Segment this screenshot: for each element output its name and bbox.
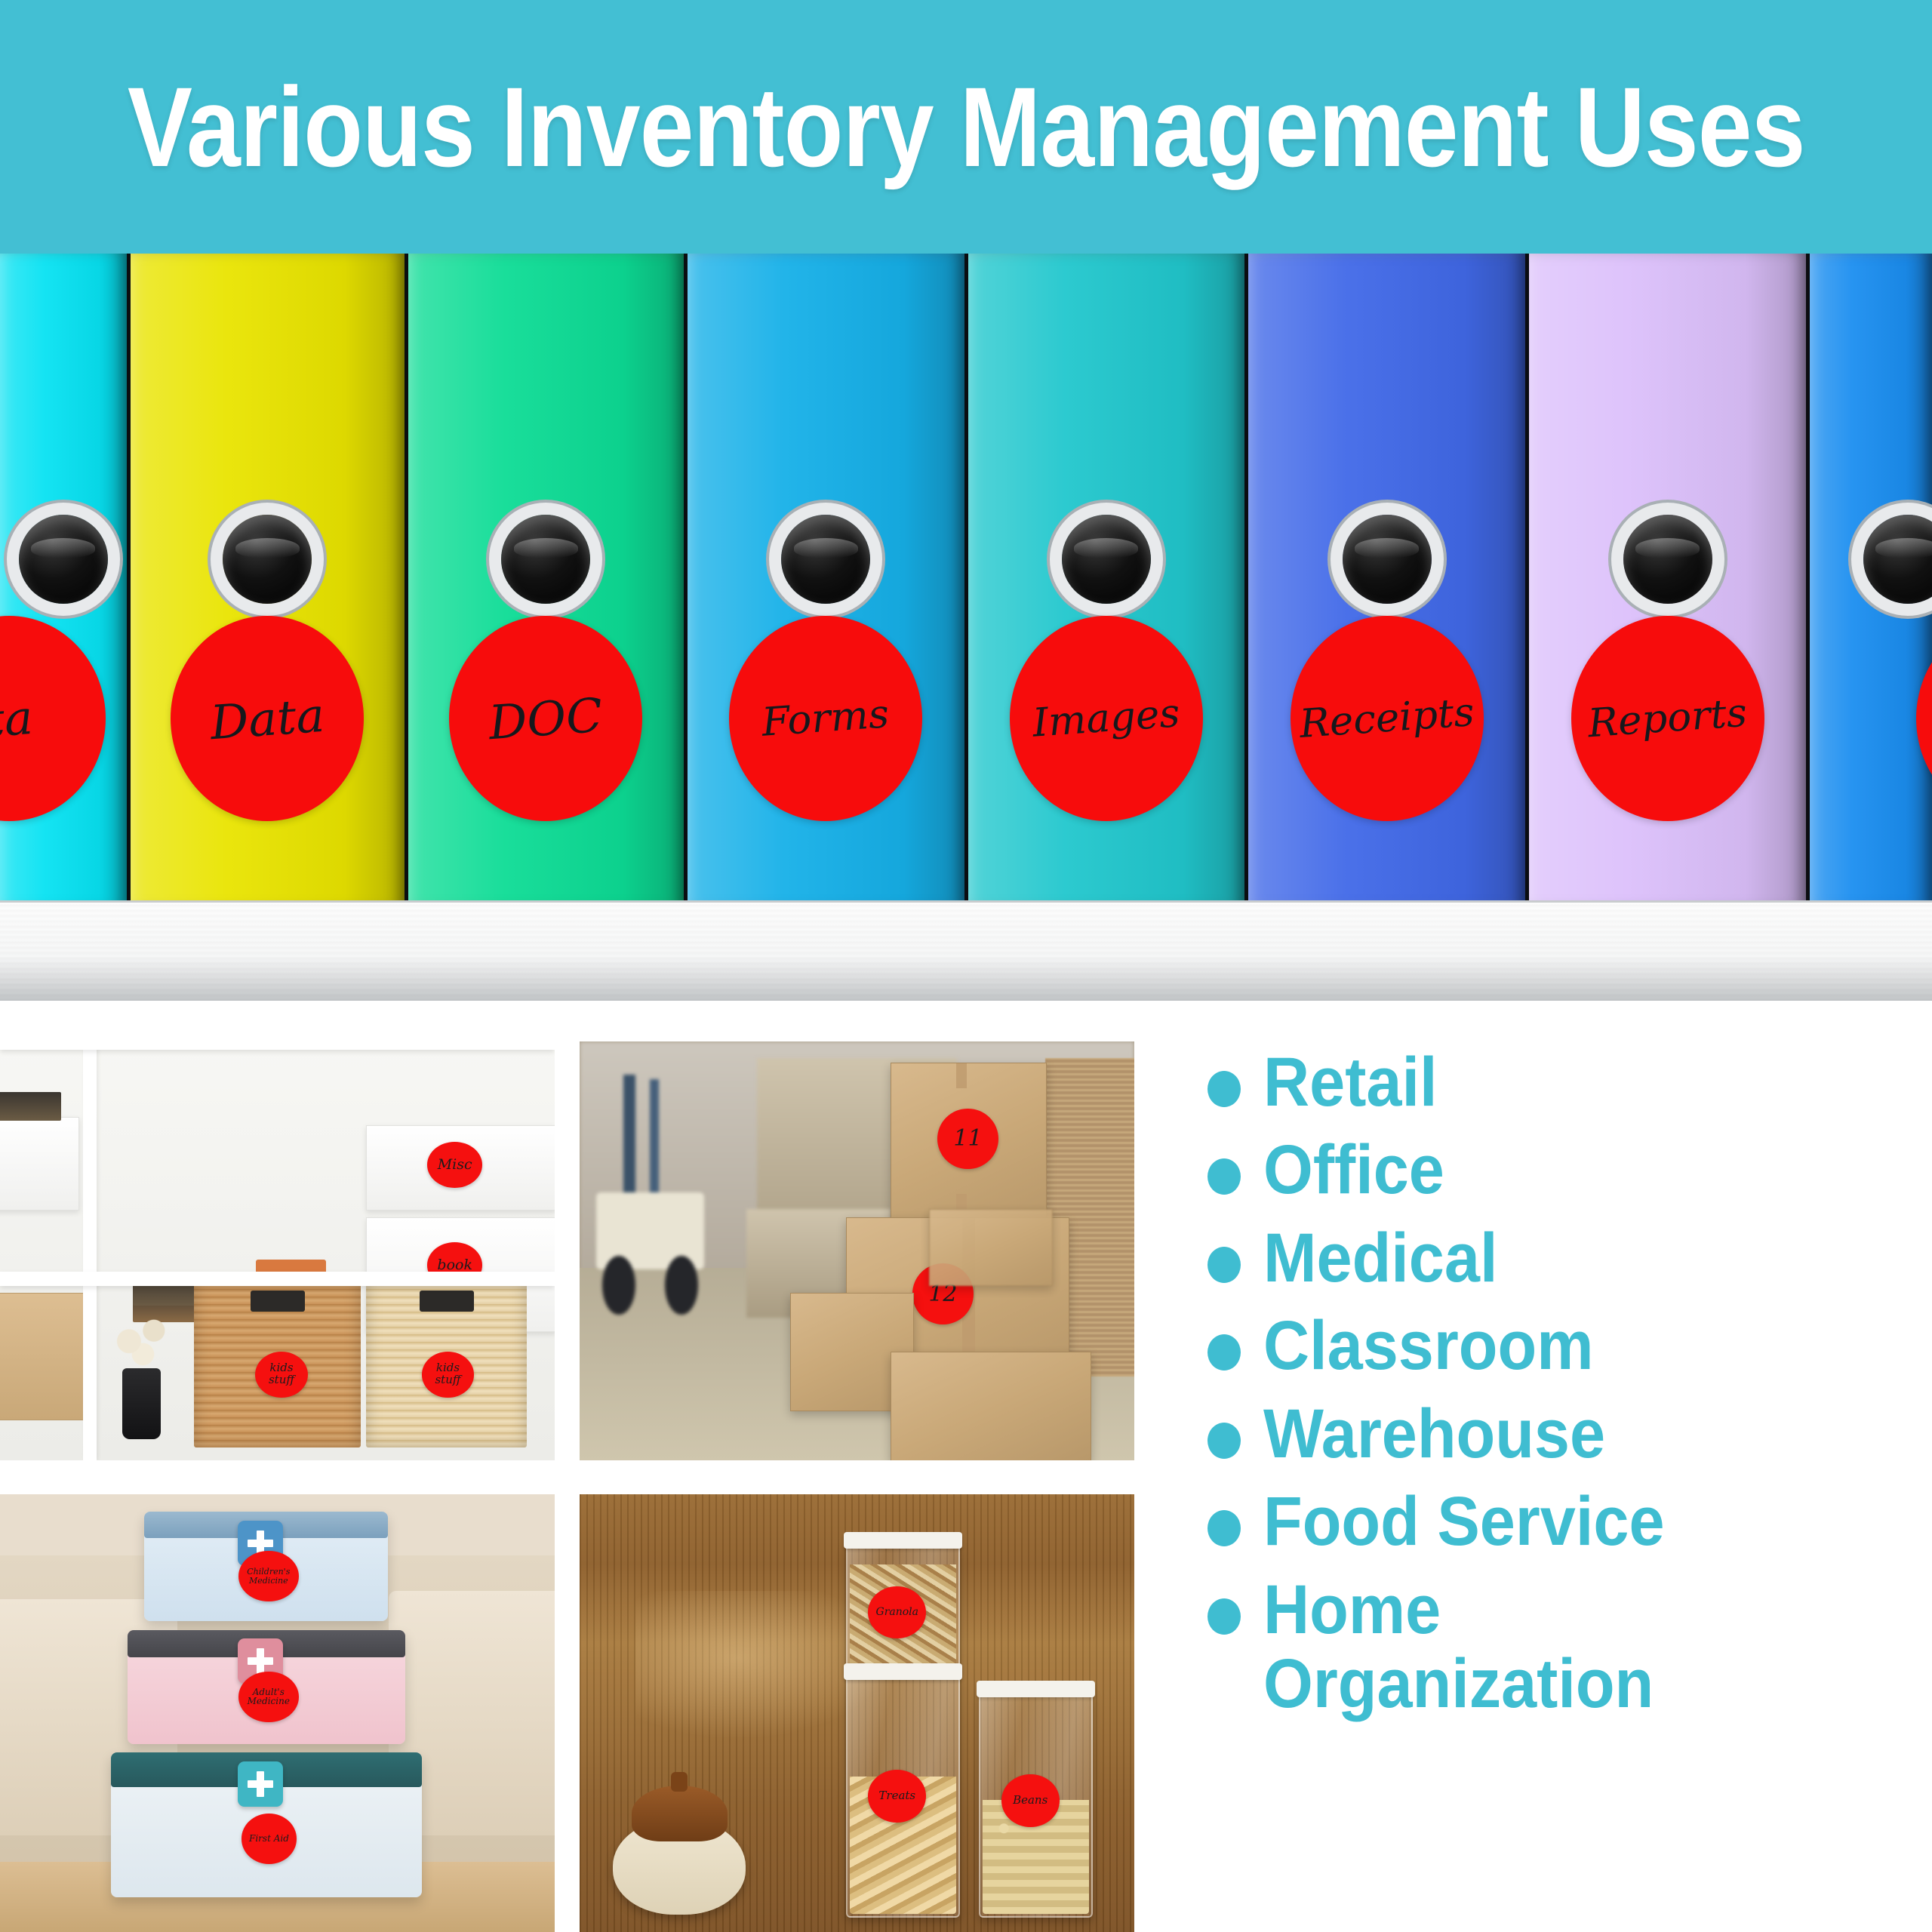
list-item: Food Service — [1207, 1484, 1917, 1558]
binder-label-text: Forms — [761, 691, 891, 746]
binder-partial-right: D — [1810, 254, 1932, 906]
list-item: Retail — [1207, 1045, 1917, 1119]
binder-label-sticker: Receipts — [1291, 616, 1484, 821]
jar-lid — [844, 1532, 962, 1549]
binder-label-text: ta — [0, 689, 35, 747]
list-item: Office — [1207, 1133, 1917, 1207]
use-case-home-organization: Home Organization — [1263, 1573, 1654, 1721]
crock-lid — [632, 1786, 728, 1841]
medical-cross-icon — [238, 1761, 283, 1807]
sticker-first-aid: First Aid — [241, 1814, 297, 1864]
header-banner: Various Inventory Management Uses — [0, 0, 1932, 254]
bullet-dot-icon — [1207, 1334, 1241, 1371]
forklift — [596, 1075, 746, 1301]
shelf-divider-horizontal — [0, 1272, 555, 1286]
list-item: Classroom — [1207, 1309, 1917, 1383]
binder-label-text: Data — [208, 687, 326, 749]
home-office-shelf-photo: Misc book kids stuff kids stuff — [0, 1041, 555, 1460]
bullet-dot-icon — [1207, 1510, 1241, 1546]
pantry-jars-photo: Granola Treats Beans — [580, 1494, 1134, 1932]
use-case-classroom: Classroom — [1263, 1309, 1593, 1383]
ceramic-crock — [613, 1818, 746, 1915]
binder-finger-hole-icon — [1062, 515, 1151, 604]
shelf-top-edge — [0, 1041, 555, 1050]
forklift-wheel — [602, 1256, 635, 1315]
jar-lid — [977, 1681, 1095, 1697]
bullet-dot-icon — [1207, 1423, 1241, 1459]
binder-label-sticker: Images — [1010, 616, 1203, 821]
binder-label-text: Images — [1031, 691, 1181, 746]
binder-data: Data — [131, 254, 408, 906]
binder-forms: Forms — [688, 254, 968, 906]
binder-label-text: DOC — [487, 687, 605, 749]
binder-label-sticker: Reports — [1571, 616, 1764, 821]
binder-finger-hole-icon — [781, 515, 870, 604]
binder-label-sticker: DOC — [449, 616, 642, 821]
list-item: Medical — [1207, 1221, 1917, 1295]
cardboard-box — [891, 1352, 1092, 1460]
sticker-adults-medicine: Adult's Medicine — [238, 1672, 299, 1722]
binder-shelf-photo: ta Data DOC Forms Images — [0, 254, 1932, 1001]
binder-finger-hole-icon — [223, 515, 312, 604]
wooden-shelf — [0, 900, 1932, 1001]
binder-finger-hole-icon — [19, 515, 108, 604]
list-item: Warehouse — [1207, 1397, 1917, 1471]
binder-doc: DOC — [408, 254, 688, 906]
binder-label-sticker: D — [1916, 616, 1932, 821]
use-case-office: Office — [1263, 1133, 1444, 1207]
bullet-dot-icon — [1207, 1158, 1241, 1195]
binder-label-text: Receipts — [1298, 690, 1475, 747]
binder-label-sticker: ta — [0, 616, 106, 821]
bullet-dot-icon — [1207, 1247, 1241, 1283]
binder-finger-hole-icon — [1623, 515, 1712, 604]
page-title: Various Inventory Management Uses — [128, 70, 1805, 183]
use-case-medical: Medical — [1263, 1221, 1497, 1295]
medicine-boxes-photo: Children's Medicine Adult's Medicine Fir… — [0, 1494, 555, 1932]
sticker-treats: Treats — [868, 1770, 926, 1823]
sticker-beans: Beans — [1001, 1774, 1060, 1827]
use-case-warehouse: Warehouse — [1263, 1397, 1605, 1471]
bullet-dot-icon — [1207, 1598, 1241, 1635]
binder-finger-hole-icon — [1343, 515, 1432, 604]
binder-label-text: Reports — [1586, 691, 1749, 747]
binder-receipts: Receipts — [1248, 254, 1529, 906]
crock-knob — [671, 1772, 688, 1792]
shelving-frame — [0, 1041, 555, 1460]
binder-images: Images — [968, 254, 1249, 906]
binder-finger-hole-icon — [1863, 515, 1932, 604]
list-item: Home Organization — [1207, 1573, 1917, 1721]
sticker-childrens-medicine: Children's Medicine — [238, 1551, 299, 1601]
use-case-retail: Retail — [1263, 1045, 1437, 1119]
box-tape — [956, 1063, 967, 1089]
binder-data-partial: ta — [0, 254, 131, 906]
shelf-divider-vertical — [83, 1041, 97, 1460]
binder-finger-hole-icon — [501, 515, 590, 604]
jar-lid — [844, 1663, 962, 1680]
binder-reports: Reports — [1529, 254, 1810, 906]
sticker-box-11: 11 — [937, 1109, 998, 1169]
warehouse-boxes-photo: 11 12 — [580, 1041, 1134, 1460]
binder-label-sticker: Data — [171, 616, 364, 821]
use-cases-list: Retail Office Medical Classroom Warehous… — [1207, 1045, 1917, 1735]
bullet-dot-icon — [1207, 1071, 1241, 1107]
binder-label-sticker: Forms — [729, 616, 922, 821]
binder-row: ta Data DOC Forms Images — [0, 254, 1932, 906]
use-case-food-service: Food Service — [1263, 1484, 1665, 1558]
cardboard-box — [929, 1209, 1053, 1286]
forklift-wheel — [665, 1256, 698, 1315]
